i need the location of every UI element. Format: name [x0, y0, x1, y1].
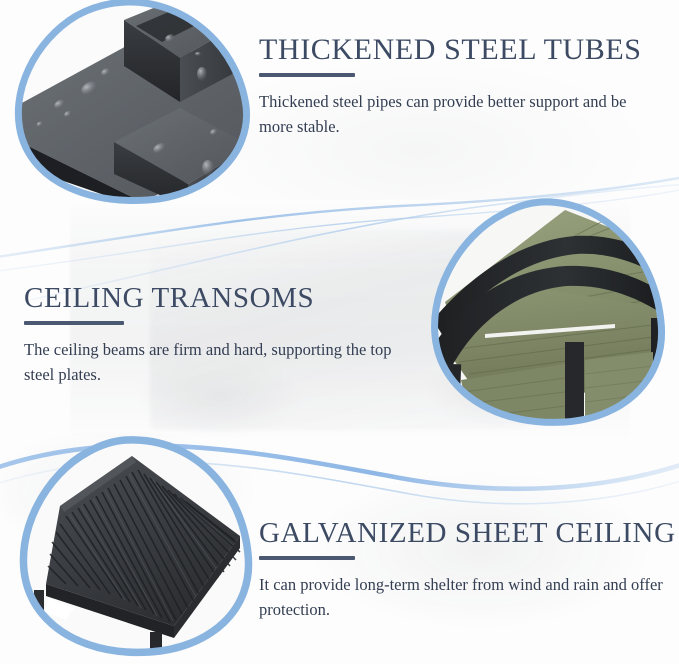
feature-description-galvanized-sheet-ceiling: It can provide long-term shelter from wi…	[259, 572, 669, 622]
feature-description-thickened-steel-tubes: Thickened steel pipes can provide better…	[259, 89, 657, 139]
steel-tubes-image	[2, 0, 260, 208]
title-accent-rule-2	[24, 321, 124, 325]
feature-block-ceiling-transoms: CEILING TRANSOMS The ceiling beams are f…	[24, 283, 424, 387]
title-accent-rule-1	[259, 73, 355, 77]
title-accent-rule-3	[259, 556, 355, 560]
feature-title-ceiling-transoms: CEILING TRANSOMS	[24, 283, 424, 314]
callout-steel-tubes	[2, 0, 260, 208]
feature-block-thickened-steel-tubes: THICKENED STEEL TUBES Thickened steel pi…	[259, 34, 657, 140]
galvanized-sheet-image	[4, 432, 266, 664]
feature-title-galvanized-sheet-ceiling: GALVANIZED SHEET CEILING	[259, 518, 669, 549]
callout-galvanized-sheet	[4, 432, 266, 664]
infographic-page: THICKENED STEEL TUBES Thickened steel pi…	[0, 0, 679, 664]
feature-description-ceiling-transoms: The ceiling beams are firm and hard, sup…	[24, 337, 424, 387]
callout-ceiling-transoms	[415, 192, 677, 432]
feature-block-galvanized-sheet-ceiling: GALVANIZED SHEET CEILING It can provide …	[259, 518, 669, 622]
feature-title-thickened-steel-tubes: THICKENED STEEL TUBES	[259, 34, 657, 66]
